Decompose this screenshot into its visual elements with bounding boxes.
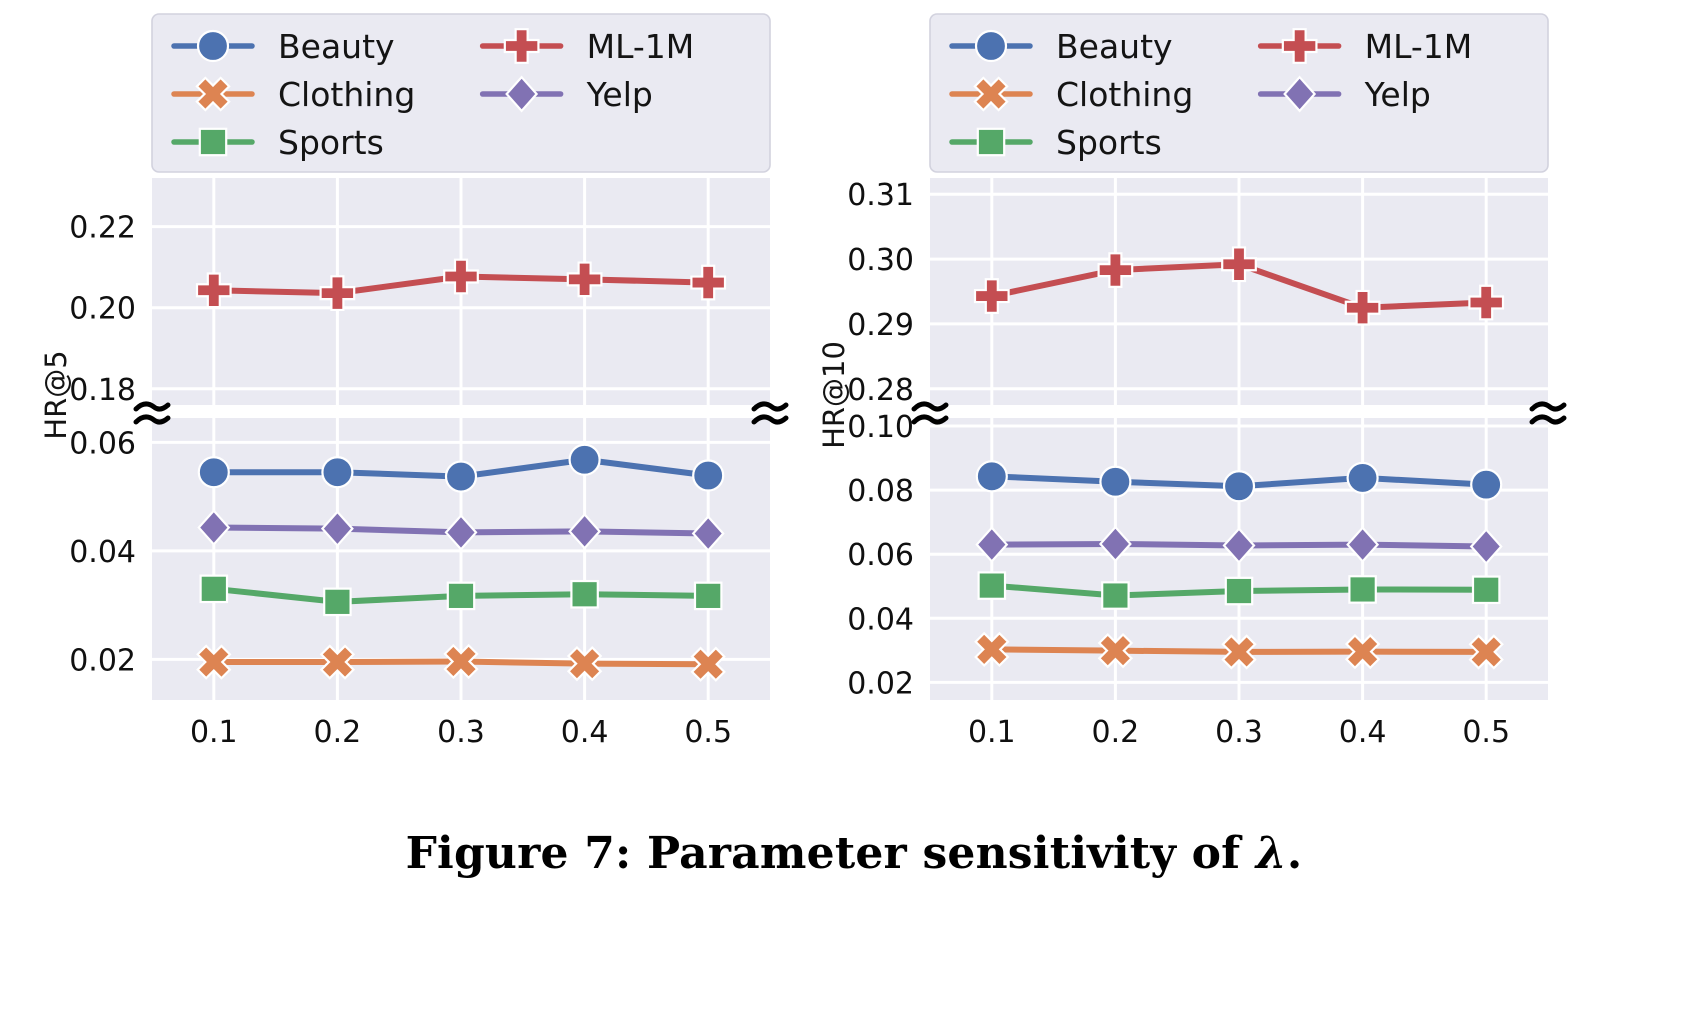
caption-lambda-symbol: λ <box>1256 828 1287 879</box>
y-tick-lower: 0.04 <box>847 602 914 637</box>
legend-label: Yelp <box>1364 75 1431 114</box>
legend-item-beauty[interactable]: Beauty <box>174 27 395 66</box>
y-tick-lower: 0.02 <box>69 643 136 678</box>
legend-circle-marker <box>976 31 1006 61</box>
data-point-2 <box>1226 578 1252 604</box>
data-point-1 <box>324 589 350 615</box>
legend-label: Clothing <box>278 75 415 114</box>
x-tick-0.1: 0.1 <box>968 715 1016 750</box>
legend-label: Beauty <box>278 27 395 66</box>
broken-axis-marker <box>1532 404 1564 409</box>
data-point-4 <box>693 460 723 490</box>
y-tick-lower: 0.08 <box>847 474 914 509</box>
legend-square-marker <box>978 129 1004 155</box>
x-tick-labels: 0.10.20.30.40.5 <box>968 715 1510 750</box>
chart-panels: BeautyML-1MClothingYelpSports0.180.200.2… <box>0 0 1708 800</box>
x-tick-0.3: 0.3 <box>437 715 485 750</box>
y-tick-upper: 0.28 <box>847 373 914 408</box>
x-tick-0.5: 0.5 <box>1462 715 1510 750</box>
x-tick-0.4: 0.4 <box>561 715 609 750</box>
y-tick-labels: 0.280.290.300.310.020.040.060.080.10 <box>847 178 914 701</box>
legend-label: Sports <box>278 123 384 162</box>
y-tick-upper: 0.29 <box>847 308 914 343</box>
legend-label: Beauty <box>1056 27 1173 66</box>
data-point-0 <box>979 572 1005 598</box>
data-point-1 <box>1100 467 1130 497</box>
x-tick-0.2: 0.2 <box>314 715 362 750</box>
x-tick-0.3: 0.3 <box>1215 715 1263 750</box>
data-point-0 <box>201 576 227 602</box>
legend-item-sports[interactable]: Sports <box>952 123 1162 162</box>
x-tick-0.4: 0.4 <box>1339 715 1387 750</box>
chart-legend: BeautyML-1MClothingYelpSports <box>152 14 770 172</box>
data-point-2 <box>446 462 476 492</box>
chart-hr10: BeautyML-1MClothingYelpSports0.280.290.3… <box>812 0 1612 800</box>
y-axis-label: HR@10 <box>817 341 851 449</box>
figure-caption: Figure 7: Parameter sensitivity of λ. <box>0 828 1708 879</box>
caption-suffix: . <box>1287 828 1303 879</box>
legend-label: Clothing <box>1056 75 1193 114</box>
data-point-3 <box>571 581 597 607</box>
chart-hr5: BeautyML-1MClothingYelpSports0.180.200.2… <box>40 0 840 800</box>
data-point-1 <box>322 457 352 487</box>
legend-label: Sports <box>1056 123 1162 162</box>
x-tick-0.1: 0.1 <box>190 715 238 750</box>
x-tick-0.2: 0.2 <box>1092 715 1140 750</box>
x-tick-0.5: 0.5 <box>684 715 732 750</box>
broken-axis-marker <box>136 417 168 422</box>
y-tick-lower: 0.06 <box>847 538 914 573</box>
y-tick-lower: 0.10 <box>847 410 914 445</box>
legend-circle-marker <box>198 31 228 61</box>
data-point-3 <box>1348 463 1378 493</box>
chart-hr10-canvas: BeautyML-1MClothingYelpSports0.280.290.3… <box>812 0 1612 800</box>
data-point-0 <box>199 457 229 487</box>
legend-item-sports[interactable]: Sports <box>174 123 384 162</box>
broken-axis-marker <box>754 404 786 409</box>
caption-prefix: Figure 7: Parameter sensitivity of <box>406 828 1256 879</box>
data-point-1 <box>1102 582 1128 608</box>
legend-label: ML-1M <box>1365 27 1473 66</box>
legend-item-beauty[interactable]: Beauty <box>952 27 1173 66</box>
y-axis-label: HR@5 <box>40 350 73 439</box>
broken-axis-marker <box>914 417 946 422</box>
data-point-4 <box>1471 470 1501 500</box>
data-point-3 <box>570 445 600 475</box>
y-tick-upper: 0.18 <box>69 373 136 408</box>
data-point-4 <box>1473 577 1499 603</box>
figure-container: BeautyML-1MClothingYelpSports0.180.200.2… <box>0 0 1708 1024</box>
legend-square-marker <box>200 129 226 155</box>
data-point-3 <box>1349 576 1375 602</box>
data-point-0 <box>977 461 1007 491</box>
legend-label: Yelp <box>586 75 653 114</box>
y-tick-labels: 0.180.200.220.020.040.06 <box>69 211 136 679</box>
data-point-2 <box>1224 471 1254 501</box>
y-tick-upper: 0.30 <box>847 243 914 278</box>
x-tick-labels: 0.10.20.30.40.5 <box>190 715 732 750</box>
y-tick-lower: 0.02 <box>847 666 914 701</box>
y-tick-upper: 0.22 <box>69 211 136 246</box>
chart-legend: BeautyML-1MClothingYelpSports <box>930 14 1548 172</box>
data-point-4 <box>695 583 721 609</box>
y-tick-lower: 0.06 <box>69 426 136 461</box>
legend-label: ML-1M <box>587 27 695 66</box>
y-tick-upper: 0.20 <box>69 292 136 327</box>
y-tick-lower: 0.04 <box>69 535 136 570</box>
y-tick-upper: 0.31 <box>847 178 914 213</box>
chart-hr5-canvas: BeautyML-1MClothingYelpSports0.180.200.2… <box>40 0 840 800</box>
data-point-2 <box>448 583 474 609</box>
